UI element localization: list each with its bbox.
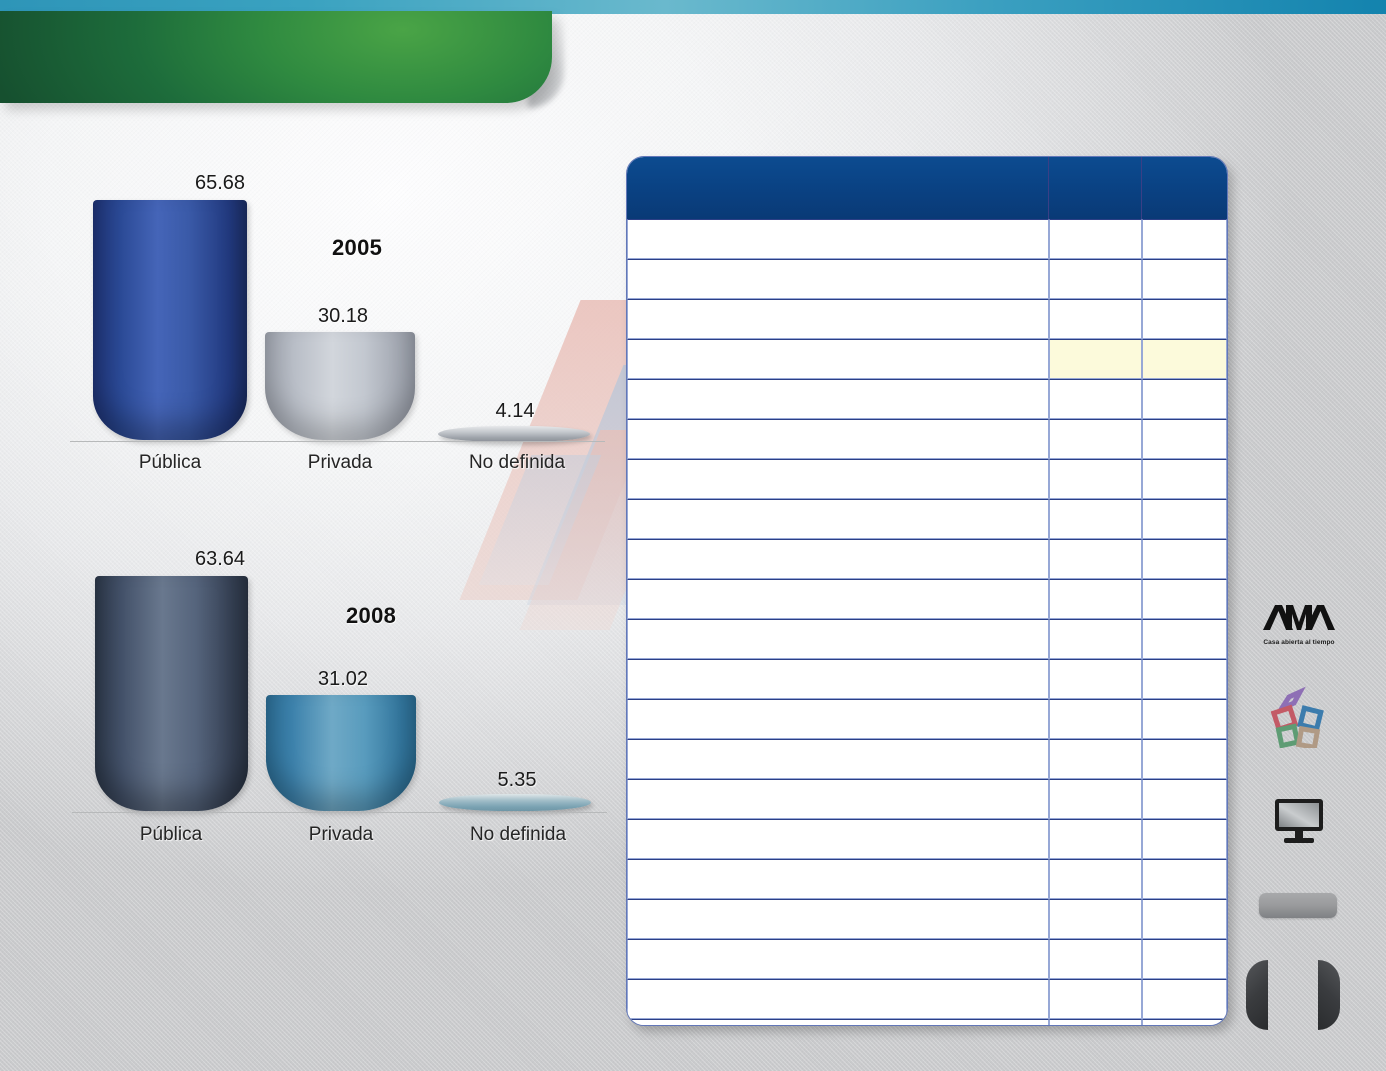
table-cell[interactable] bbox=[1049, 499, 1142, 539]
table-cell[interactable] bbox=[1049, 619, 1142, 659]
table-cell[interactable] bbox=[1049, 219, 1142, 259]
nav-previous-button[interactable] bbox=[1246, 960, 1268, 1030]
table-cell[interactable] bbox=[627, 659, 1049, 699]
chart-2005-title: 2005 bbox=[332, 235, 382, 261]
table-cell[interactable] bbox=[627, 459, 1049, 499]
table-body bbox=[627, 219, 1227, 1026]
presentation-slide: 2005 65.68 30.18 4.14 Pública Privada No… bbox=[0, 0, 1386, 1071]
table-cell[interactable] bbox=[1142, 1019, 1227, 1026]
table-cell[interactable] bbox=[627, 259, 1049, 299]
table-cell[interactable] bbox=[1142, 499, 1227, 539]
table-cell[interactable] bbox=[627, 379, 1049, 419]
table-row[interactable] bbox=[627, 579, 1227, 619]
chart-2005-value-publica: 65.68 bbox=[165, 172, 275, 195]
table-cell[interactable] bbox=[1142, 299, 1227, 339]
table-cell[interactable] bbox=[1049, 1019, 1142, 1026]
table-cell[interactable] bbox=[1142, 579, 1227, 619]
table-row[interactable] bbox=[627, 739, 1227, 779]
chart-2008: 2008 63.64 31.02 5.35 Pública Privada No… bbox=[72, 535, 632, 865]
table-cell[interactable] bbox=[1142, 339, 1227, 379]
chart-2005-value-privada: 30.18 bbox=[288, 305, 398, 328]
table-cell[interactable] bbox=[627, 739, 1049, 779]
table-cell[interactable] bbox=[1142, 939, 1227, 979]
table-row[interactable] bbox=[627, 659, 1227, 699]
uam-logo-mark bbox=[1262, 603, 1336, 633]
table-cell[interactable] bbox=[627, 899, 1049, 939]
table-cell[interactable] bbox=[1142, 659, 1227, 699]
table-cell[interactable] bbox=[1142, 979, 1227, 1019]
table-cell[interactable] bbox=[1049, 859, 1142, 899]
table-row[interactable] bbox=[627, 939, 1227, 979]
table-row[interactable] bbox=[627, 899, 1227, 939]
table-cell[interactable] bbox=[1049, 699, 1142, 739]
table-row[interactable] bbox=[627, 819, 1227, 859]
table-row[interactable] bbox=[627, 499, 1227, 539]
table-row[interactable] bbox=[627, 219, 1227, 259]
chart-2005-category-nodefinida: No definida bbox=[447, 452, 587, 474]
table-cell[interactable] bbox=[1142, 459, 1227, 499]
diamond-cluster-icon[interactable] bbox=[1268, 686, 1328, 748]
table-cell[interactable] bbox=[1142, 219, 1227, 259]
table-cell[interactable] bbox=[627, 579, 1049, 619]
chart-2005-bar-nodefinida bbox=[438, 426, 590, 442]
table-row[interactable] bbox=[627, 299, 1227, 339]
chart-2008-bar-publica bbox=[95, 576, 248, 811]
table-row[interactable] bbox=[627, 979, 1227, 1019]
table-row[interactable] bbox=[627, 539, 1227, 579]
table-cell[interactable] bbox=[1142, 859, 1227, 899]
table-header-cell-1[interactable] bbox=[627, 157, 1049, 219]
nav-menu-button[interactable] bbox=[1259, 893, 1337, 918]
table-cell[interactable] bbox=[1142, 419, 1227, 459]
table-cell[interactable] bbox=[627, 859, 1049, 899]
table-cell[interactable] bbox=[1142, 899, 1227, 939]
table-cell[interactable] bbox=[627, 299, 1049, 339]
chart-2005-bar-publica bbox=[93, 200, 247, 440]
green-header-banner bbox=[0, 11, 552, 103]
table-cell[interactable] bbox=[627, 499, 1049, 539]
table-header-row bbox=[627, 157, 1227, 219]
table-cell[interactable] bbox=[1049, 579, 1142, 619]
table-row[interactable] bbox=[627, 459, 1227, 499]
uam-logo[interactable]: Casa abierta al tiempo bbox=[1262, 603, 1336, 646]
table-cell[interactable] bbox=[1049, 379, 1142, 419]
uam-tagline: Casa abierta al tiempo bbox=[1262, 639, 1336, 646]
table-cell[interactable] bbox=[627, 779, 1049, 819]
table-cell[interactable] bbox=[627, 339, 1049, 379]
table-cell[interactable] bbox=[1049, 659, 1142, 699]
chart-2008-baseline bbox=[72, 812, 607, 813]
table-cell[interactable] bbox=[1049, 259, 1142, 299]
chart-2008-value-publica: 63.64 bbox=[165, 548, 275, 571]
table-cell[interactable] bbox=[627, 699, 1049, 739]
chart-2008-bar-nodefinida bbox=[439, 794, 591, 811]
table-cell[interactable] bbox=[627, 1019, 1049, 1026]
table-cell[interactable] bbox=[1142, 539, 1227, 579]
chart-2008-value-privada: 31.02 bbox=[288, 668, 398, 691]
monitor-icon[interactable] bbox=[1272, 797, 1326, 845]
table-row[interactable] bbox=[627, 419, 1227, 459]
table-cell[interactable] bbox=[627, 819, 1049, 859]
table-cell[interactable] bbox=[1142, 819, 1227, 859]
table-cell[interactable] bbox=[1049, 299, 1142, 339]
chart-2008-value-nodefinida: 5.35 bbox=[462, 769, 572, 792]
table-cell[interactable] bbox=[1142, 739, 1227, 779]
chart-2005-bar-privada bbox=[265, 332, 415, 440]
chart-2005: 2005 65.68 30.18 4.14 Pública Privada No… bbox=[70, 160, 630, 490]
table-cell[interactable] bbox=[1142, 379, 1227, 419]
table-row[interactable] bbox=[627, 779, 1227, 819]
table-cell[interactable] bbox=[1049, 339, 1142, 379]
table-cell[interactable] bbox=[1142, 259, 1227, 299]
table-row[interactable] bbox=[627, 259, 1227, 299]
table-cell[interactable] bbox=[1049, 459, 1142, 499]
table-cell[interactable] bbox=[627, 619, 1049, 659]
table-cell[interactable] bbox=[627, 939, 1049, 979]
table-cell[interactable] bbox=[1049, 899, 1142, 939]
table-cell[interactable] bbox=[627, 979, 1049, 1019]
table-row[interactable] bbox=[627, 1019, 1227, 1026]
table-cell[interactable] bbox=[1049, 979, 1142, 1019]
table-cell[interactable] bbox=[1142, 779, 1227, 819]
chart-2008-category-nodefinida: No definida bbox=[448, 824, 588, 846]
table-cell[interactable] bbox=[1049, 539, 1142, 579]
chart-2008-category-privada: Privada bbox=[286, 824, 396, 846]
table-cell[interactable] bbox=[1142, 619, 1227, 659]
table-cell[interactable] bbox=[1049, 819, 1142, 859]
chart-2008-title: 2008 bbox=[346, 603, 396, 629]
table-row[interactable] bbox=[627, 339, 1227, 379]
nav-next-button[interactable] bbox=[1318, 960, 1340, 1030]
table-row[interactable] bbox=[627, 379, 1227, 419]
table-row[interactable] bbox=[627, 619, 1227, 659]
table-cell[interactable] bbox=[627, 219, 1049, 259]
table-cell[interactable] bbox=[1142, 699, 1227, 739]
table-cell[interactable] bbox=[627, 419, 1049, 459]
chart-2005-value-nodefinida: 4.14 bbox=[460, 400, 570, 423]
table-header-cell-3[interactable] bbox=[1142, 157, 1227, 219]
chart-2008-bar-privada bbox=[266, 695, 416, 811]
table-row[interactable] bbox=[627, 859, 1227, 899]
table-cell[interactable] bbox=[1049, 739, 1142, 779]
table-cell[interactable] bbox=[1049, 419, 1142, 459]
table-cell[interactable] bbox=[1049, 779, 1142, 819]
table-cell[interactable] bbox=[627, 539, 1049, 579]
table-row[interactable] bbox=[627, 699, 1227, 739]
table-cell[interactable] bbox=[1049, 939, 1142, 979]
data-table[interactable] bbox=[626, 156, 1228, 1026]
table-header-cell-2[interactable] bbox=[1049, 157, 1142, 219]
chart-2005-category-publica: Pública bbox=[115, 452, 225, 474]
chart-2005-baseline bbox=[70, 441, 605, 442]
chart-2008-category-publica: Pública bbox=[116, 824, 226, 846]
chart-2005-category-privada: Privada bbox=[285, 452, 395, 474]
